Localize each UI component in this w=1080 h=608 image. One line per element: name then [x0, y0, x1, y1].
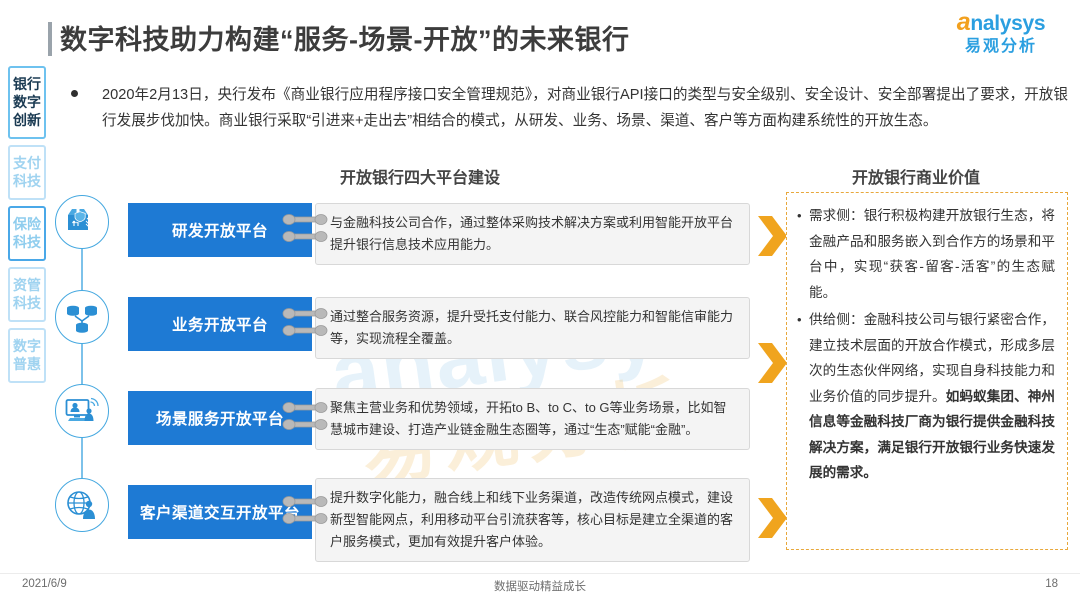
box-shield-icon — [55, 195, 109, 249]
logo-initial-a: a — [957, 8, 971, 36]
logo-chinese: 易观分析 — [940, 37, 1062, 57]
right-column-heading: 开放银行商业价值 — [852, 164, 980, 188]
connector-link-4 — [282, 494, 328, 530]
title-accent-bar — [48, 22, 52, 56]
value-bullet-icon: • — [797, 307, 809, 486]
page-title: 数字科技助力构建“服务-场景-开放”的未来银行 — [60, 18, 629, 57]
intro-text: 2020年2月13日，央行发布《商业银行应用程序接口安全管理规范》，对商业银行A… — [102, 82, 1068, 134]
value-item-lead: 供给侧： — [809, 312, 864, 327]
platform-desc-scenario: 聚焦主营业务和优势领域，开拓to B、to C、to G等业务场景，比如智慧城市… — [315, 388, 750, 450]
value-item-text: 需求侧：银行积极构建开放银行生态，将金融产品和服务嵌入到合作方的场景和平台中，实… — [809, 203, 1055, 305]
sidebar-item-bank-digital-innovation[interactable]: 银行数字创新 — [8, 66, 46, 139]
chevron-arrow-icon-1 — [756, 213, 790, 259]
logo-wordmark: analysys — [940, 9, 1062, 37]
page-footer: 2021/6/9 数据驱动精益成长 18 — [0, 578, 1080, 600]
sidebar-item-label: 数字普惠 — [10, 337, 44, 373]
analysys-logo: analysys 易观分析 — [940, 9, 1062, 61]
value-item-demand-side: • 需求侧：银行积极构建开放银行生态，将金融产品和服务嵌入到合作方的场景和平台中… — [797, 203, 1055, 305]
connector-link-2 — [282, 306, 328, 342]
database-network-icon — [55, 290, 109, 344]
bullet-dot-icon — [71, 90, 78, 97]
footer-page-number: 18 — [1045, 578, 1058, 590]
connector-link-3 — [282, 400, 328, 436]
value-item-lead: 需求侧： — [809, 208, 864, 223]
monitor-user-icon — [55, 384, 109, 438]
chevron-arrow-icon-3 — [756, 495, 790, 541]
platform-desc-business: 通过整合服务资源，提升受托支付能力、联合风控能力和智能信审能力等，实现流程全覆盖… — [315, 297, 750, 359]
platform-desc-rd: 与金融科技公司合作，通过整体采购技术解决方案或利用智能开放平台提升银行信息技术应… — [315, 203, 750, 265]
value-item-supply-side: • 供给侧：金融科技公司与银行紧密合作，建立技术层面的开放合作模式，形成多层次的… — [797, 307, 1055, 486]
sidebar-item-label: 银行数字创新 — [10, 75, 44, 129]
sidebar-item-label: 资管科技 — [10, 276, 44, 312]
page-header: 数字科技助力构建“服务-场景-开放”的未来银行 analysys 易观分析 — [0, 0, 1080, 66]
sidebar-item-digital-inclusive[interactable]: 数字普惠 — [8, 328, 46, 383]
globe-user-icon — [55, 478, 109, 532]
left-column-heading: 开放银行四大平台建设 — [340, 164, 500, 188]
footer-slogan: 数据驱动精益成长 — [0, 578, 1080, 594]
logo-rest: nalysys — [970, 12, 1045, 35]
sidebar-tabs: 银行数字创新 支付科技 保险科技 资管科技 数字普惠 — [6, 66, 48, 389]
value-item-text: 供给侧：金融科技公司与银行紧密合作，建立技术层面的开放合作模式，形成多层次的生态… — [809, 307, 1055, 486]
chevron-arrow-icon-2 — [756, 340, 790, 386]
value-bullet-icon: • — [797, 203, 809, 305]
connector-link-1 — [282, 212, 328, 248]
platform-desc-channel: 提升数字化能力，融合线上和线下业务渠道，改造传统网点模式，建设新型智能网点，利用… — [315, 478, 750, 562]
sidebar-item-insurance-tech[interactable]: 保险科技 — [8, 206, 46, 261]
intro-paragraph: 2020年2月13日，央行发布《商业银行应用程序接口安全管理规范》，对商业银行A… — [68, 82, 1068, 134]
sidebar-item-asset-mgmt-tech[interactable]: 资管科技 — [8, 267, 46, 322]
sidebar-item-payment-tech[interactable]: 支付科技 — [8, 145, 46, 200]
footer-divider — [0, 573, 1080, 574]
sidebar-item-label: 保险科技 — [10, 215, 44, 251]
sidebar-item-label: 支付科技 — [10, 154, 44, 190]
business-value-panel: • 需求侧：银行积极构建开放银行生态，将金融产品和服务嵌入到合作方的场景和平台中… — [786, 192, 1068, 550]
